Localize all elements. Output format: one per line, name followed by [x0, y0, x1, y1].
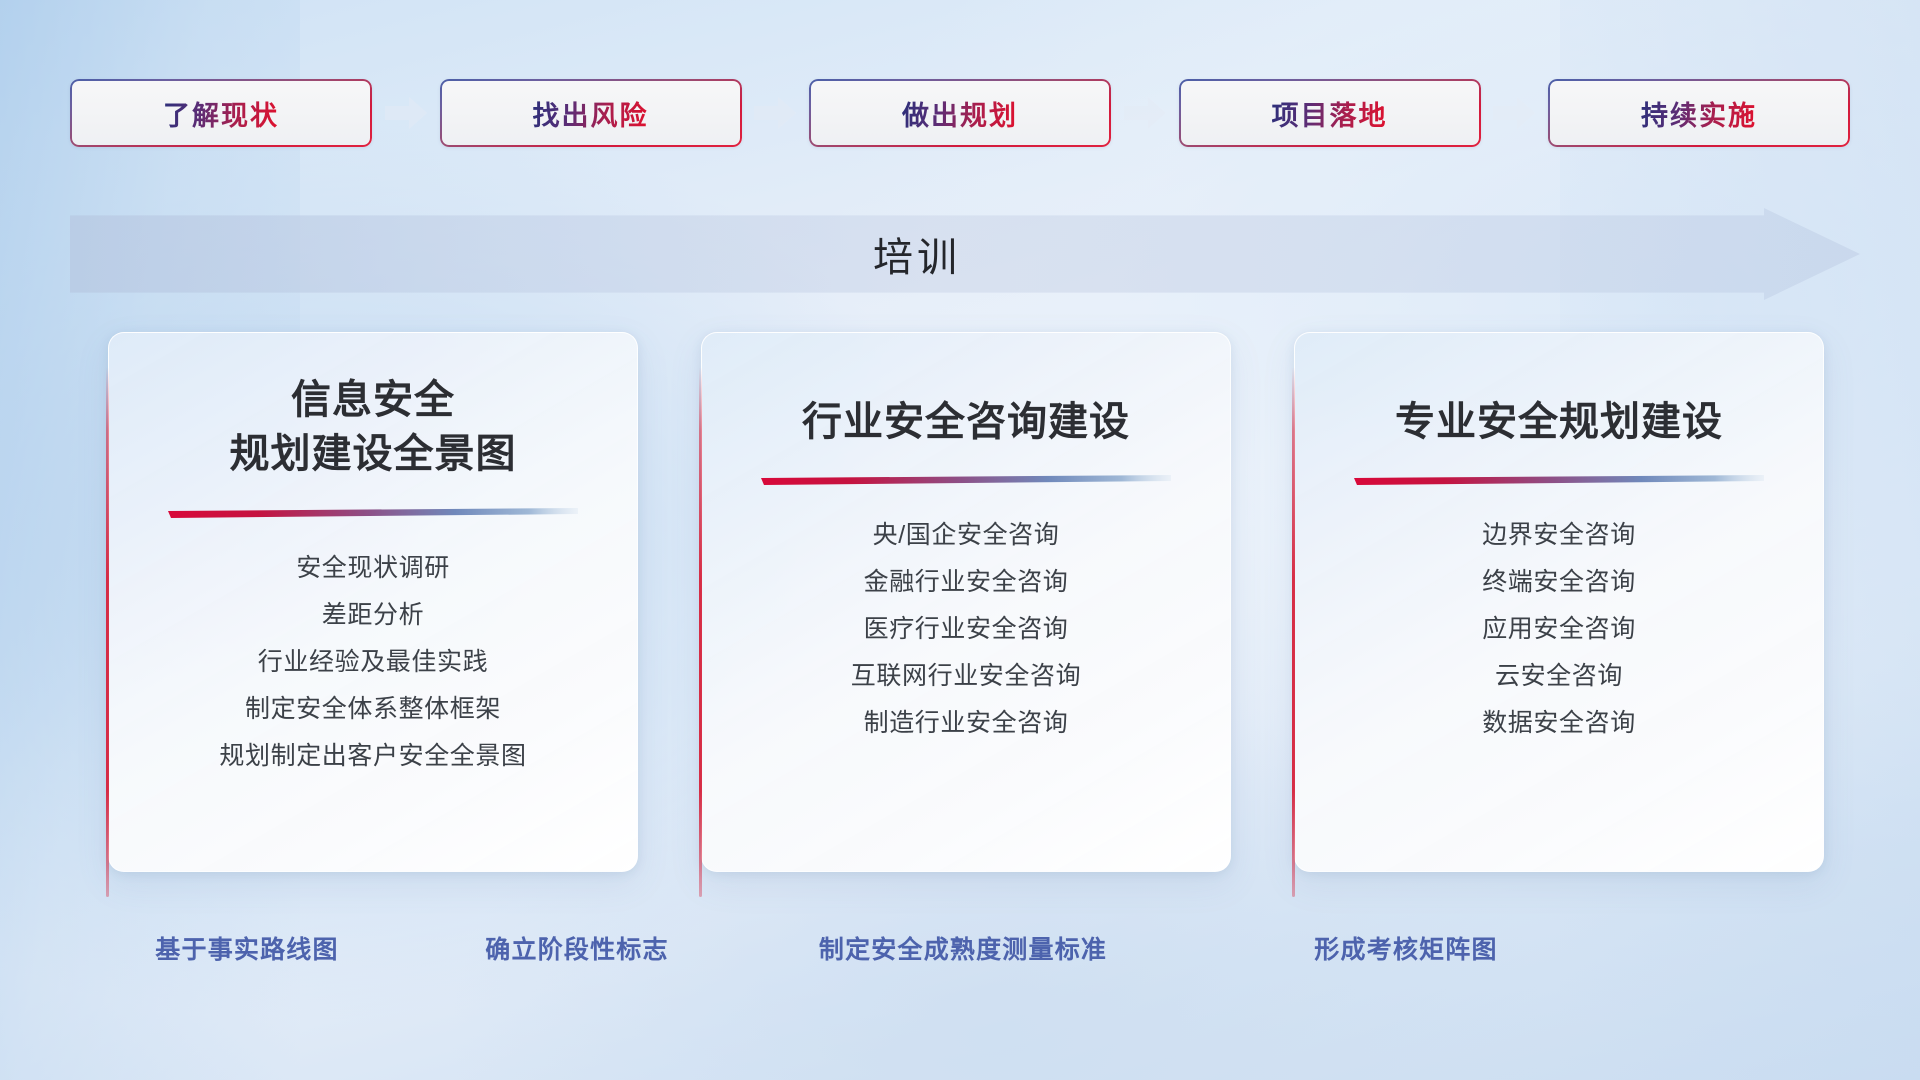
- list-item: 制造行业安全咨询: [702, 700, 1230, 747]
- list-item: 互联网行业安全咨询: [702, 653, 1230, 700]
- step-box-2[interactable]: 找出风险: [440, 79, 742, 147]
- arrow-right-icon: [385, 96, 427, 130]
- list-item: 云安全咨询: [1295, 653, 1823, 700]
- step-box-4[interactable]: 项目落地: [1179, 79, 1481, 147]
- list-item: 终端安全咨询: [1295, 559, 1823, 606]
- step-box-1[interactable]: 了解现状: [70, 79, 372, 147]
- gradient-divider-icon: [168, 508, 578, 519]
- list-item: 医疗行业安全咨询: [702, 606, 1230, 653]
- training-banner: 培训: [70, 208, 1860, 300]
- card-professional-security-planning[interactable]: 专业安全规划建设: [1294, 332, 1824, 872]
- arrow-right-icon: [1493, 96, 1535, 130]
- step-label: 了解现状: [163, 94, 279, 133]
- arrow-right-icon: [754, 96, 796, 130]
- list-item: 数据安全咨询: [1295, 700, 1823, 747]
- card-information-security-blueprint[interactable]: 信息安全 规划建设全景图: [108, 332, 638, 872]
- gradient-divider-icon: [1354, 475, 1764, 486]
- list-item: 行业经验及最佳实践: [109, 639, 637, 686]
- list-item: 央/国企安全咨询: [702, 512, 1230, 559]
- banner-label: 培训: [70, 208, 1860, 300]
- step-box-3[interactable]: 做出规划: [809, 79, 1111, 147]
- footer-label-2: 确立阶段性标志: [485, 930, 668, 966]
- card-item-list: 安全现状调研 差距分析 行业经验及最佳实践 制定安全体系整体框架 规划制定出客户…: [109, 545, 637, 780]
- step-label: 做出规划: [902, 94, 1018, 133]
- gradient-divider-icon: [761, 475, 1171, 486]
- card-accent-line: [699, 367, 702, 897]
- card-accent-line: [106, 367, 109, 897]
- step-label: 找出风险: [533, 94, 649, 133]
- arrow-right-icon: [1124, 96, 1166, 130]
- step-label: 持续实施: [1641, 94, 1757, 133]
- footer-label-row: 基于事实路线图 确立阶段性标志 制定安全成熟度测量标准 形成考核矩阵图: [0, 930, 1920, 978]
- card-title: 行业安全咨询建设: [784, 395, 1148, 449]
- list-item: 边界安全咨询: [1295, 512, 1823, 559]
- footer-label-1: 基于事实路线图: [155, 930, 338, 966]
- slide-canvas: 了解现状 找出风险 做出规划 项目落地: [0, 0, 1920, 1080]
- card-item-list: 央/国企安全咨询 金融行业安全咨询 医疗行业安全咨询 互联网行业安全咨询 制造行…: [702, 512, 1230, 747]
- card-industry-security-consulting[interactable]: 行业安全咨询建设: [701, 332, 1231, 872]
- step-label: 项目落地: [1272, 94, 1388, 133]
- list-item: 应用安全咨询: [1295, 606, 1823, 653]
- footer-label-4: 形成考核矩阵图: [1314, 930, 1497, 966]
- card-item-list: 边界安全咨询 终端安全咨询 应用安全咨询 云安全咨询 数据安全咨询: [1295, 512, 1823, 747]
- card-title: 专业安全规划建设: [1377, 395, 1741, 449]
- list-item: 安全现状调研: [109, 545, 637, 592]
- step-box-5[interactable]: 持续实施: [1548, 79, 1850, 147]
- list-item: 规划制定出客户安全全景图: [109, 733, 637, 780]
- step-flow: 了解现状 找出风险 做出规划 项目落地: [70, 78, 1850, 148]
- list-item: 金融行业安全咨询: [702, 559, 1230, 606]
- footer-label-3: 制定安全成熟度测量标准: [819, 930, 1107, 966]
- card-accent-line: [1292, 367, 1295, 897]
- card-row: 信息安全 规划建设全景图: [108, 332, 1824, 880]
- list-item: 制定安全体系整体框架: [109, 686, 637, 733]
- card-title: 信息安全 规划建设全景图: [212, 373, 535, 482]
- list-item: 差距分析: [109, 592, 637, 639]
